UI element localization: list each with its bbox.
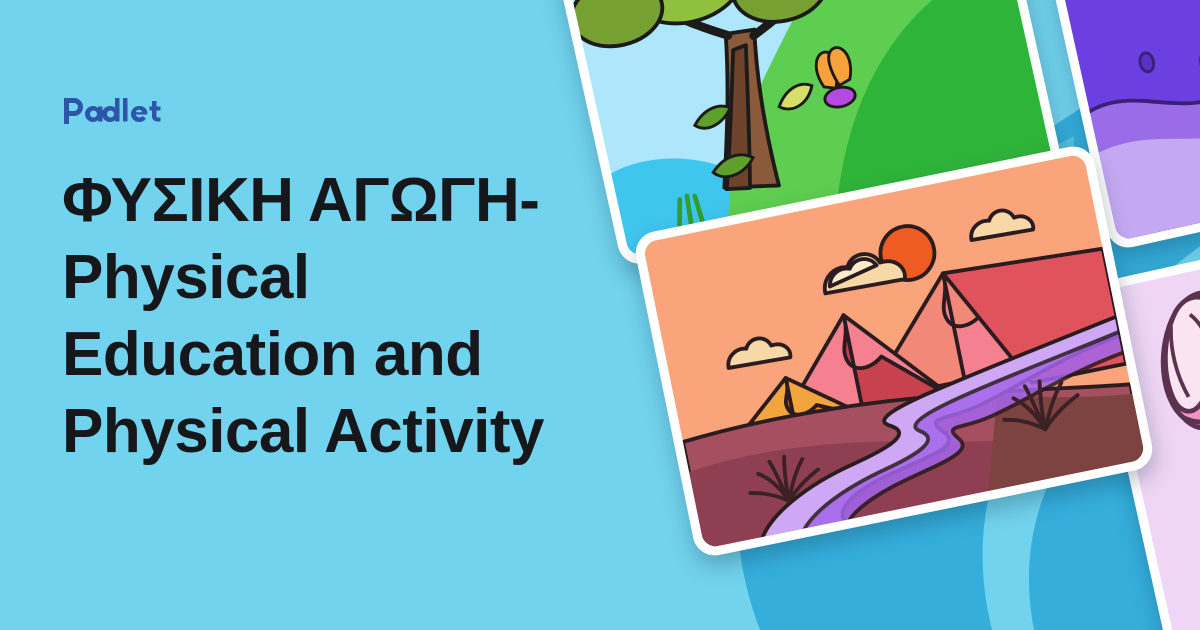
- padlet-wordmark-icon: [62, 96, 166, 126]
- share-card-canvas: ΦΥΣΙΚΗ ΑΓΩΓΗ-Physical Education and Phys…: [0, 0, 1200, 630]
- headline-panel: ΦΥΣΙΚΗ ΑΓΩΓΗ-Physical Education and Phys…: [0, 0, 600, 630]
- padlet-logo[interactable]: [62, 96, 600, 126]
- page-title: ΦΥΣΙΚΗ ΑΓΩΓΗ-Physical Education and Phys…: [62, 162, 582, 470]
